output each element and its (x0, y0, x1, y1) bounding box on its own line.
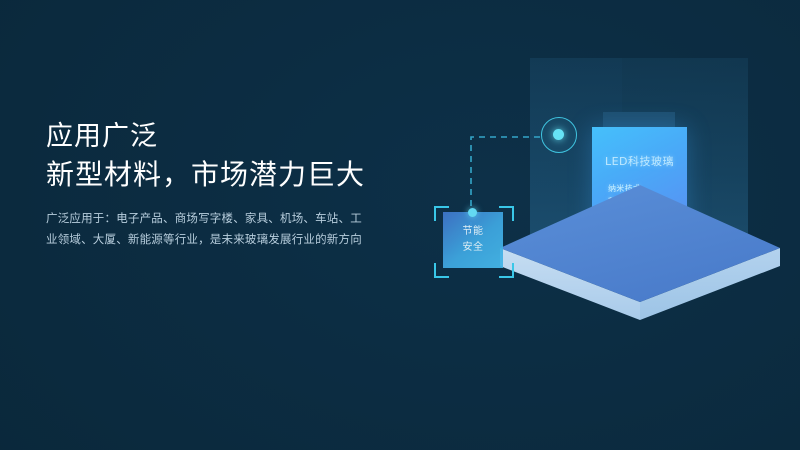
page-title-line-2: 新型材料，市场潜力巨大 (46, 156, 446, 194)
node-core-dot-icon (553, 129, 564, 140)
feature-badge[interactable]: 节能 安全 (434, 202, 512, 278)
page-title-line-1: 应用广泛 (46, 118, 446, 156)
badge-label: 节能 安全 (443, 224, 503, 256)
badge-dot-icon (468, 208, 477, 217)
slide-canvas: 应用广泛 新型材料，市场潜力巨大 广泛应用于：电子产品、商场写字楼、家具、机场、… (0, 0, 800, 450)
illustration: LED科技玻璃 纳米技术 数字化控制 安装便捷 低维护 (420, 0, 800, 450)
body-paragraph: 广泛应用于：电子产品、商场写字楼、家具、机场、车站、工业领域、大厦、新能源等行业… (46, 208, 366, 250)
badge-box: 节能 安全 (443, 212, 503, 268)
node-marker[interactable] (541, 117, 579, 155)
text-block: 应用广泛 新型材料，市场潜力巨大 广泛应用于：电子产品、商场写字楼、家具、机场、… (46, 118, 446, 250)
